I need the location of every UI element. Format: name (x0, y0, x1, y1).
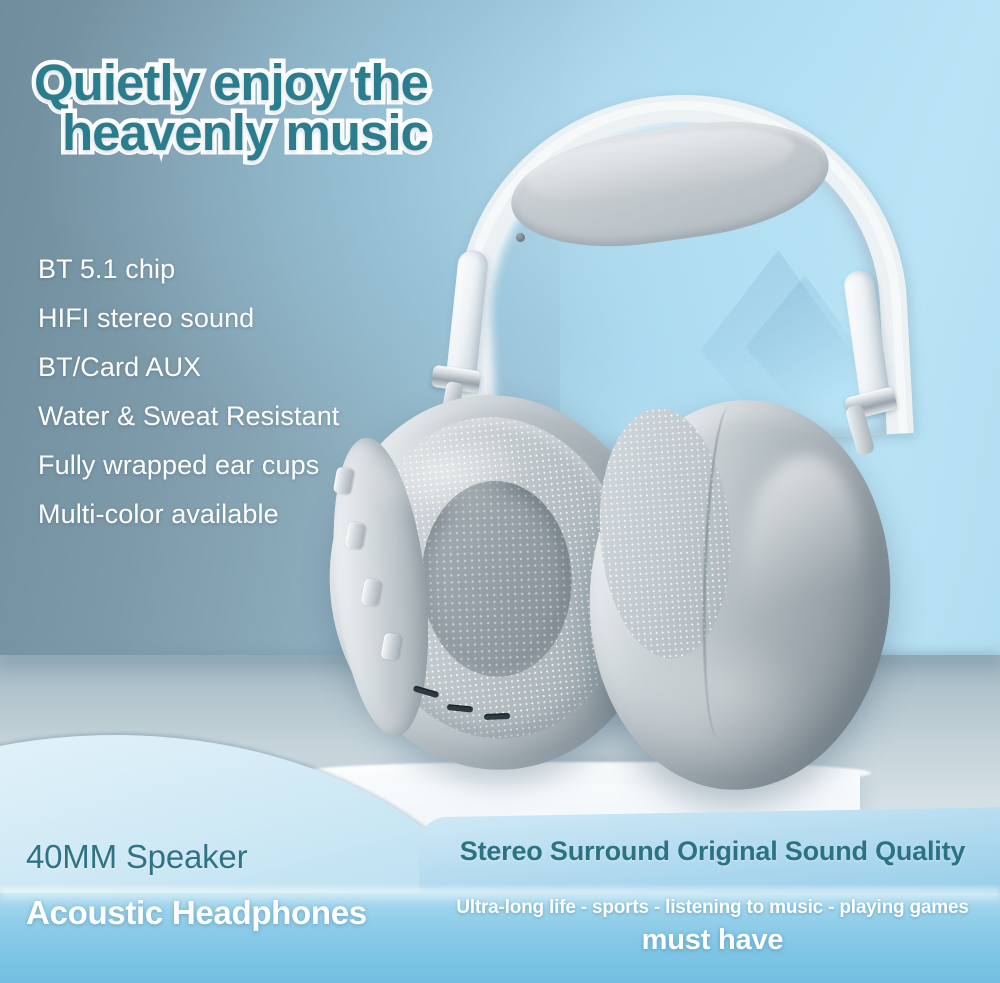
right-callout: Stereo Surround Original Sound Quality U… (430, 836, 995, 957)
feature-item: BT/Card AUX (38, 354, 458, 381)
must-have-emphasis: must have (430, 924, 995, 957)
feature-item: Fully wrapped ear cups (38, 452, 458, 479)
speaker-grille-slot (484, 713, 510, 720)
use-cases-subline: Ultra-long life - sports - listening to … (430, 897, 995, 919)
sound-quality-heading: Stereo Surround Original Sound Quality (430, 836, 995, 867)
feature-list: BT 5.1 chip HIFI stereo sound BT/Card AU… (38, 256, 458, 550)
headband-screw (516, 233, 525, 242)
headline-line-2: heavenly music (34, 108, 554, 158)
feature-item: HIFI stereo sound (38, 305, 458, 332)
feature-item: BT 5.1 chip (38, 256, 458, 283)
feature-item: Multi-color available (38, 501, 458, 528)
ear-cup-right-highlight-lower (634, 623, 812, 755)
headline-line-1: Quietly enjoy the (34, 54, 428, 111)
left-callout: 40MM Speaker Acoustic Headphones (26, 838, 386, 932)
feature-item: Water & Sweat Resistant (38, 403, 458, 430)
product-advertisement-poster: Quietly enjoy the heavenly music BT 5.1 … (0, 0, 1000, 983)
ear-cup-right (577, 390, 903, 800)
headline: Quietly enjoy the heavenly music (34, 58, 554, 158)
product-title: Acoustic Headphones (26, 894, 386, 932)
speaker-size-label: 40MM Speaker (26, 838, 386, 876)
